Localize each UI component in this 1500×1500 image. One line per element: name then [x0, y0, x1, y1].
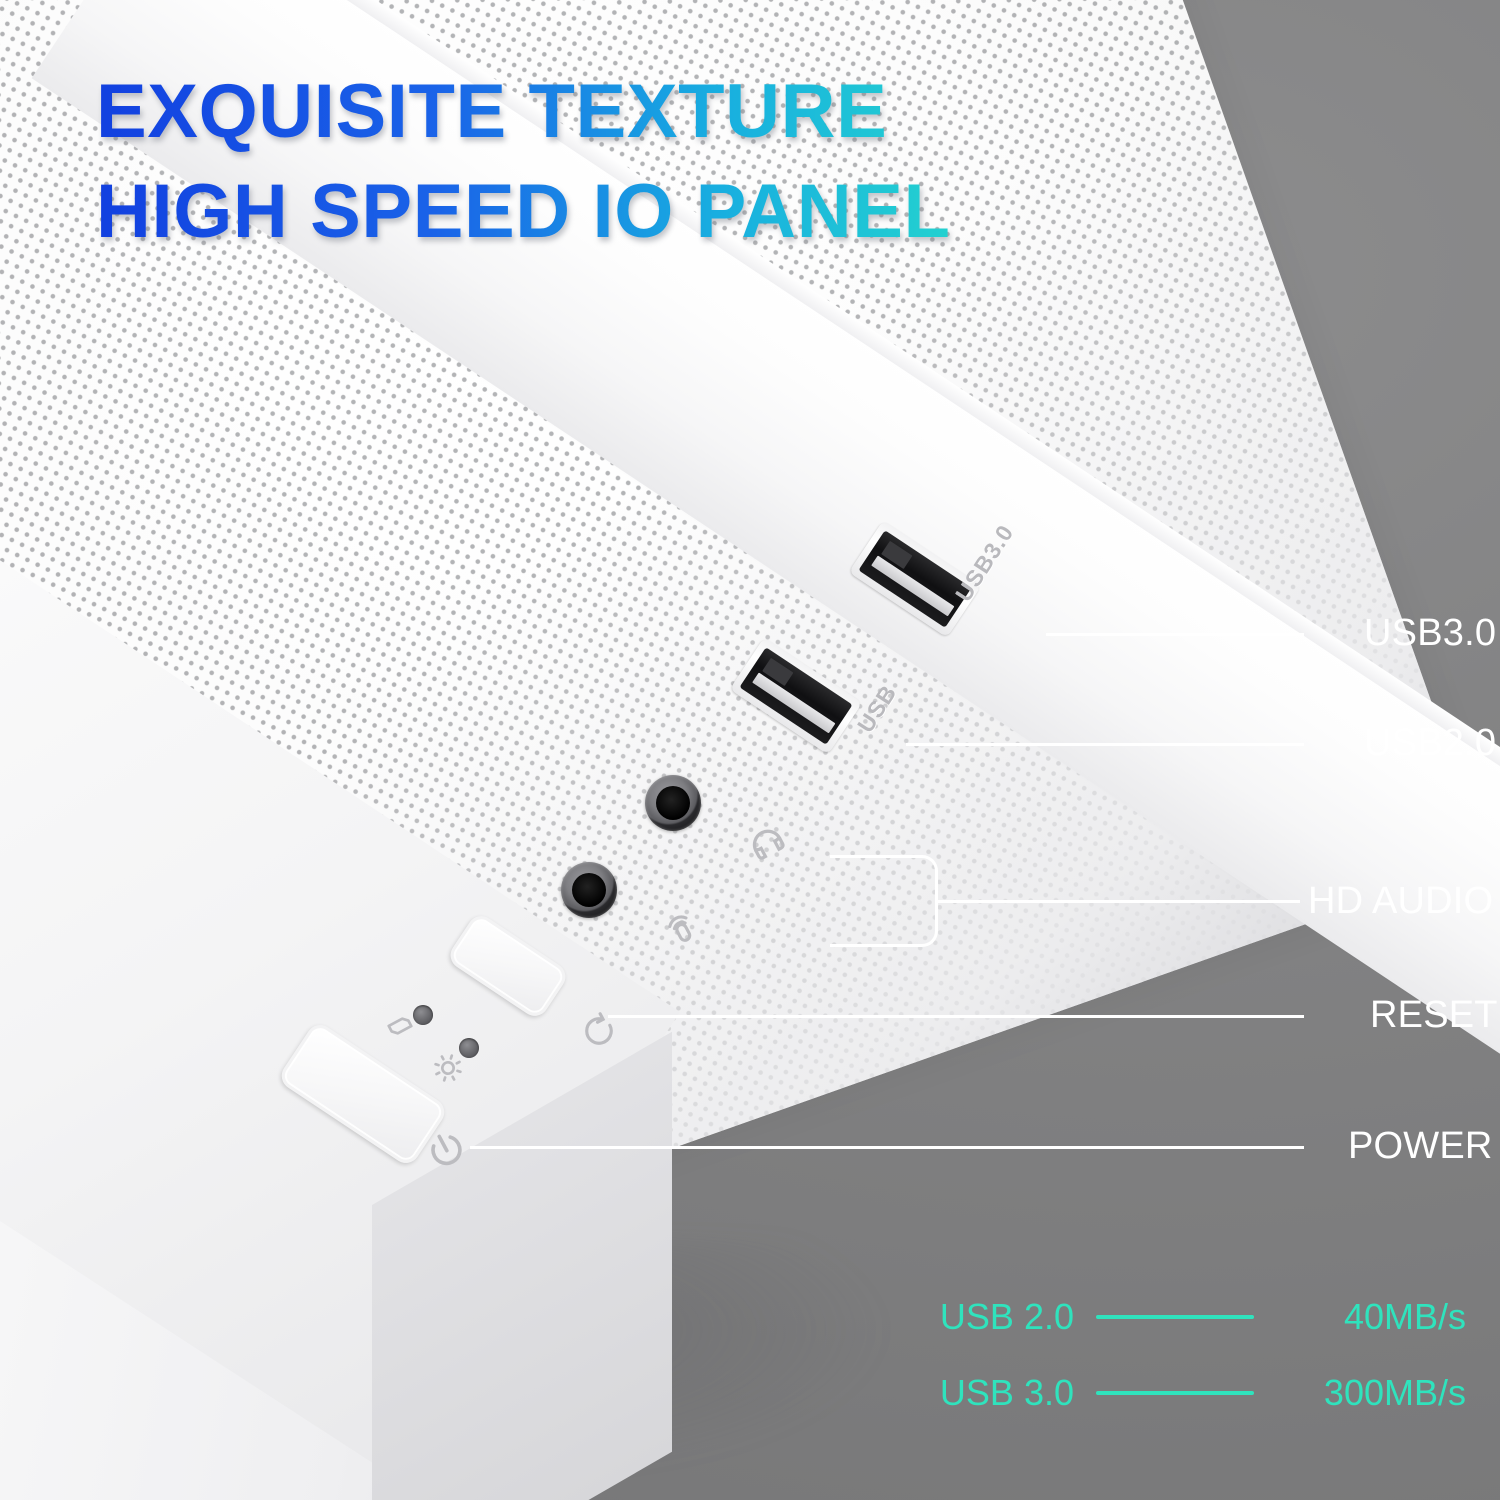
leader-line-hdaudio: [938, 900, 1300, 903]
callout-label-usb2: USB2.0: [1364, 722, 1496, 765]
callout-label-reset: RESET: [1370, 994, 1498, 1037]
speed-rule-usb3: [1096, 1391, 1254, 1395]
headphone-icon: [744, 820, 790, 866]
speed-name-usb3: USB 3.0: [940, 1372, 1074, 1414]
callout-label-usb3: USB3.0: [1364, 612, 1496, 655]
speed-row-usb2: USB 2.0 40MB/s: [940, 1296, 1466, 1338]
microphone-jack: [561, 862, 617, 918]
hdd-icon: [382, 1008, 418, 1044]
hd-audio-bracket: [830, 855, 938, 947]
speed-value-usb3: 300MB/s: [1276, 1372, 1466, 1414]
callout-label-hdaudio: HD AUDIO: [1308, 880, 1493, 923]
usb-speed-spec-block: USB 2.0 40MB/s USB 3.0 300MB/s: [940, 1262, 1466, 1414]
speed-name-usb2: USB 2.0: [940, 1296, 1074, 1338]
product-feature-image: USB3.0 USB: [0, 0, 1500, 1500]
speed-value-usb2: 40MB/s: [1276, 1296, 1466, 1338]
speed-rule-usb2: [1096, 1315, 1254, 1319]
microphone-icon: [660, 908, 704, 952]
leader-line-power: [470, 1146, 1304, 1149]
speed-row-usb3: USB 3.0 300MB/s: [940, 1372, 1466, 1414]
headline: EXQUISITE TEXTURE HIGH SPEED IO PANEL: [96, 62, 1096, 263]
leader-line-usb2: [906, 743, 1304, 746]
rgb-light-icon: [428, 1048, 468, 1088]
microphone-jack-hole: [572, 873, 606, 907]
headphone-jack-hole: [656, 786, 690, 820]
leader-line-usb3: [1046, 633, 1304, 636]
headline-line-2: HIGH SPEED IO PANEL: [96, 162, 1096, 262]
callout-label-power: POWER: [1348, 1125, 1493, 1168]
headphone-jack: [645, 775, 701, 831]
power-icon: [424, 1128, 470, 1174]
headline-line-1: EXQUISITE TEXTURE: [96, 62, 1096, 162]
leader-line-reset: [608, 1015, 1304, 1018]
